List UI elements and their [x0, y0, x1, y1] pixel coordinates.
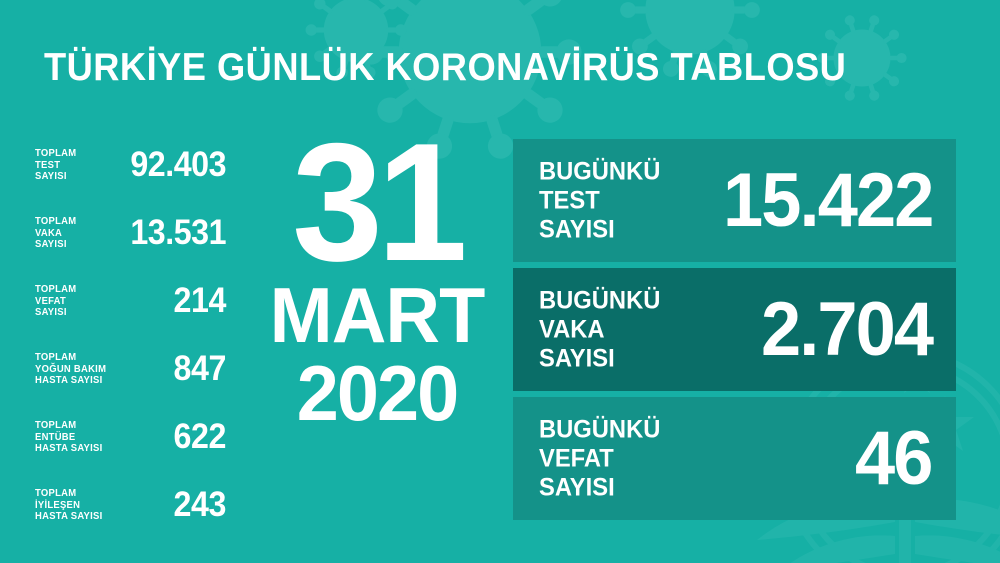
daily-value-cases: 2.704	[761, 291, 932, 369]
date-year: 2020	[265, 354, 488, 432]
daily-value-test: 15.422	[723, 162, 932, 240]
daily-label-line3: SAYISI	[539, 473, 660, 502]
daily-card-test: BUGÜNKÜ TEST SAYISI 15.422	[513, 139, 956, 262]
total-label-line1: TOPLAM	[35, 488, 102, 500]
total-label-line3: SAYISI	[35, 239, 76, 251]
total-label-line1: TOPLAM	[35, 148, 76, 160]
daily-value-deaths: 46	[855, 420, 932, 498]
total-label-intensive-care: TOPLAM YOĞUN BAKIM HASTA SAYISI	[35, 352, 106, 387]
total-row-intubated: TOPLAM ENTÜBE HASTA SAYISI 622	[30, 403, 226, 471]
daily-label-line3: SAYISI	[539, 344, 660, 373]
total-value-recovered: 243	[174, 487, 226, 523]
total-row-deaths: TOPLAM VEFAT SAYISI 214	[30, 267, 226, 335]
daily-label-line2: VAKA	[539, 315, 660, 344]
totals-column: TOPLAM TEST SAYISI 92.403 TOPLAM VAKA SA…	[30, 131, 226, 539]
total-label-recovered: TOPLAM İYİLEŞEN HASTA SAYISI	[35, 488, 102, 523]
total-value-intubated: 622	[174, 419, 226, 455]
daily-label-line2: VEFAT	[539, 444, 660, 473]
daily-card-cases: BUGÜNKÜ VAKA SAYISI 2.704	[513, 268, 956, 391]
total-row-recovered: TOPLAM İYİLEŞEN HASTA SAYISI 243	[30, 471, 226, 539]
total-label-cases: TOPLAM VAKA SAYISI	[35, 216, 76, 251]
total-label-line3: HASTA SAYISI	[35, 375, 106, 387]
total-label-line3: HASTA SAYISI	[35, 443, 102, 455]
total-value-deaths: 214	[174, 283, 226, 319]
total-label-deaths: TOPLAM VEFAT SAYISI	[35, 284, 76, 319]
total-row-cases: TOPLAM VAKA SAYISI 13.531	[30, 199, 226, 267]
page-title: TÜRKİYE GÜNLÜK KORONAVİRÜS TABLOSU	[44, 46, 846, 90]
daily-label-line2: TEST	[539, 186, 660, 215]
total-value-cases: 13.531	[130, 215, 226, 251]
total-label-intubated: TOPLAM ENTÜBE HASTA SAYISI	[35, 420, 102, 455]
total-label-test: TOPLAM TEST SAYISI	[35, 148, 76, 183]
date-month: MART	[265, 276, 488, 354]
total-label-line1: TOPLAM	[35, 352, 106, 364]
daily-label-line1: BUGÜNKÜ	[539, 286, 660, 315]
daily-label-test: BUGÜNKÜ TEST SAYISI	[539, 157, 660, 244]
date-block: 31 MART 2020	[262, 134, 492, 432]
total-label-line3: SAYISI	[35, 307, 76, 319]
infographic-poster: TÜRKİYE GÜNLÜK KORONAVİRÜS TABLOSU TOPLA…	[0, 0, 1000, 563]
daily-label-cases: BUGÜNKÜ VAKA SAYISI	[539, 286, 660, 373]
total-row-intensive-care: TOPLAM YOĞUN BAKIM HASTA SAYISI 847	[30, 335, 226, 403]
total-value-intensive-care: 847	[174, 351, 226, 387]
daily-label-line3: SAYISI	[539, 215, 660, 244]
total-label-line3: SAYISI	[35, 171, 76, 183]
daily-label-deaths: BUGÜNKÜ VEFAT SAYISI	[539, 415, 660, 502]
total-value-test: 92.403	[130, 147, 226, 183]
daily-label-line1: BUGÜNKÜ	[539, 415, 660, 444]
total-label-line1: TOPLAM	[35, 216, 76, 228]
total-row-test: TOPLAM TEST SAYISI 92.403	[30, 131, 226, 199]
daily-card-deaths: BUGÜNKÜ VEFAT SAYISI 46	[513, 397, 956, 520]
total-label-line1: TOPLAM	[35, 284, 76, 296]
total-label-line3: HASTA SAYISI	[35, 511, 102, 523]
date-day: 31	[265, 134, 488, 270]
total-label-line1: TOPLAM	[35, 420, 102, 432]
daily-label-line1: BUGÜNKÜ	[539, 157, 660, 186]
daily-cards-column: BUGÜNKÜ TEST SAYISI 15.422 BUGÜNKÜ VAKA …	[513, 139, 956, 526]
